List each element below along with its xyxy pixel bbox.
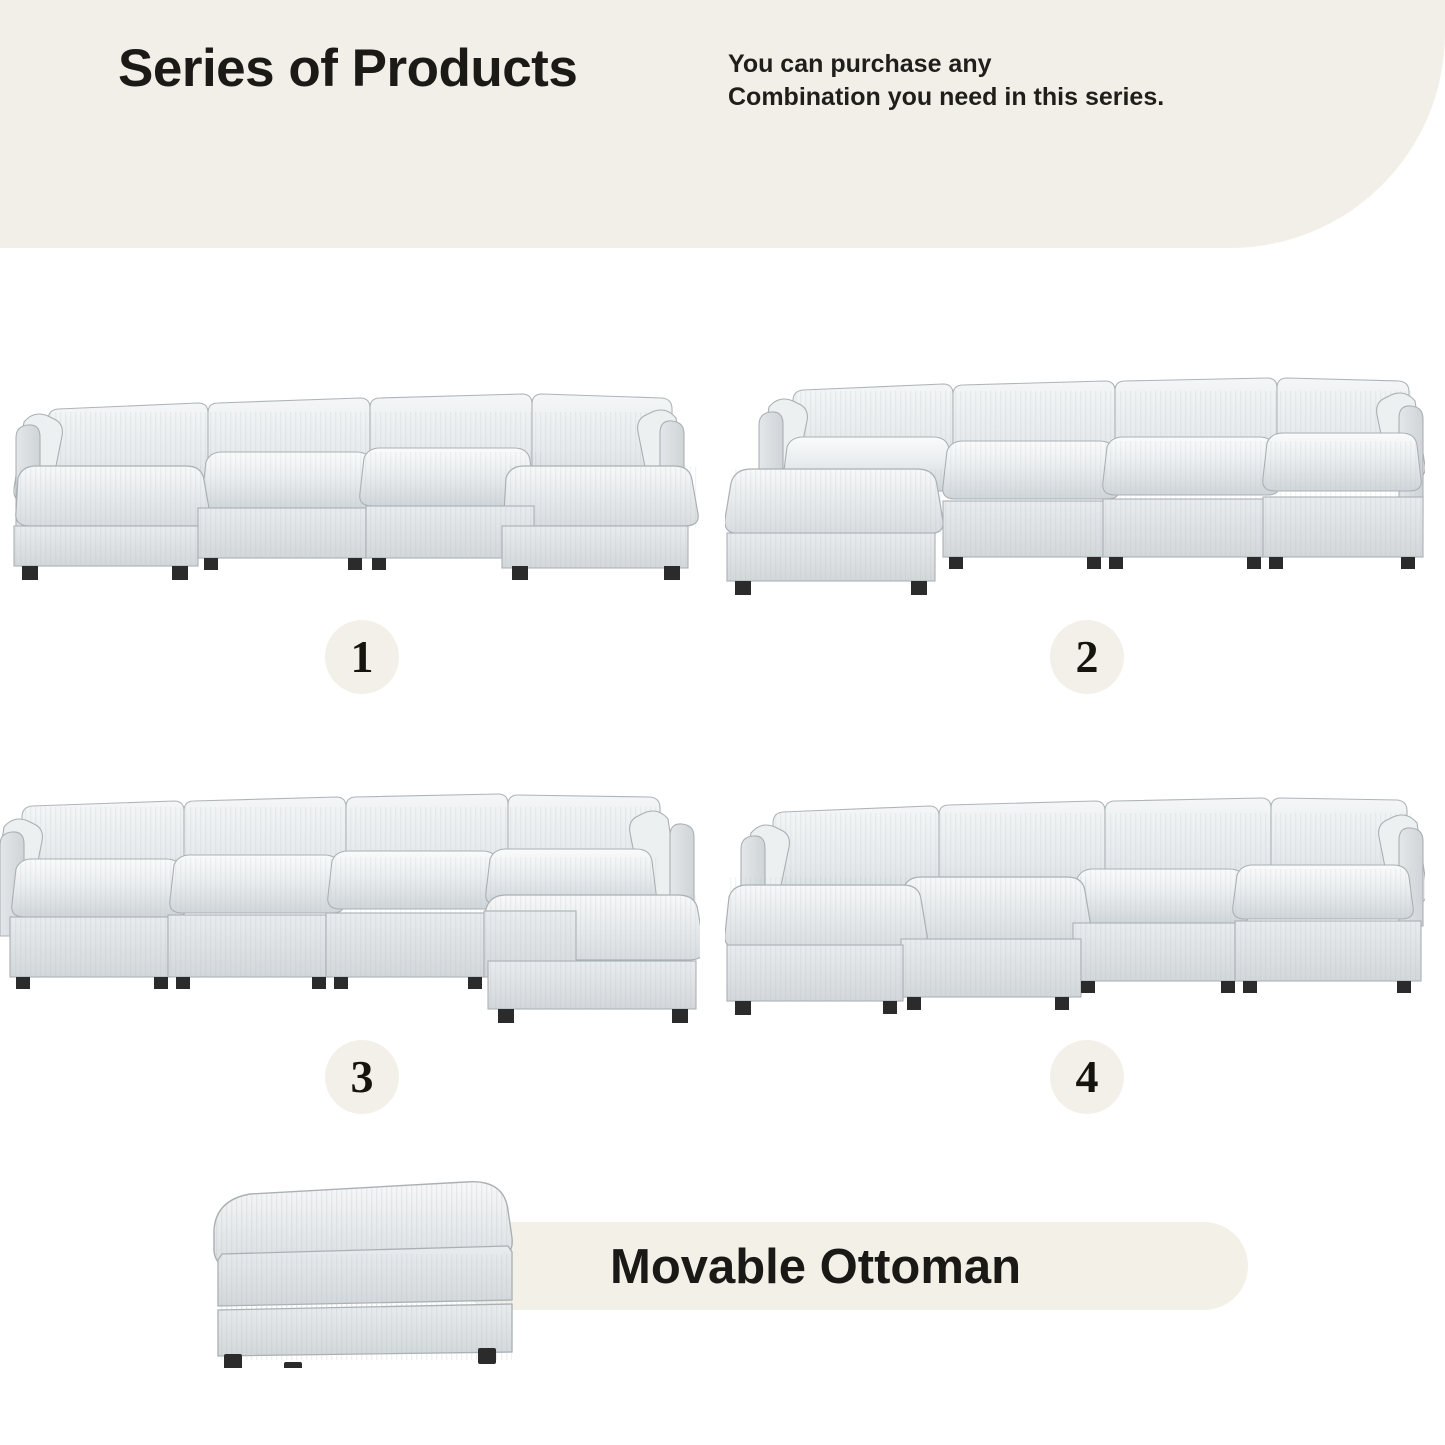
badge-1-number: 1: [351, 634, 374, 680]
configuration-1[interactable]: 1: [0, 360, 700, 600]
sofa-illustration-4: [725, 775, 1425, 1030]
badge-2-number: 2: [1076, 634, 1099, 680]
movable-ottoman-illustration[interactable]: [186, 1168, 546, 1368]
header-subtitle: You can purchase any Combination you nee…: [728, 48, 1164, 115]
header-subtitle-line-1: You can purchase any: [728, 48, 1164, 81]
sofa-illustration-3: [0, 775, 700, 1030]
chaise-cushions-4: [725, 877, 1091, 948]
seat-cushions-back-4: [1073, 865, 1414, 925]
badge-4[interactable]: 4: [1050, 1040, 1124, 1114]
movable-ottoman-label: Movable Ottoman: [610, 1232, 1210, 1302]
badge-4-number: 4: [1076, 1054, 1099, 1100]
badge-3-number: 3: [351, 1054, 374, 1100]
page-title: Series of Products: [118, 38, 577, 99]
configuration-2[interactable]: 2: [725, 355, 1425, 605]
badge-3[interactable]: 3: [325, 1040, 399, 1114]
sofa-illustration-1: [0, 360, 700, 610]
sofa-illustration-2: [725, 355, 1425, 610]
seat-cushions-1: [202, 448, 542, 510]
badge-2[interactable]: 2: [1050, 620, 1124, 694]
configuration-4[interactable]: 4: [725, 775, 1425, 1025]
header-subtitle-line-2: Combination you need in this series.: [728, 81, 1164, 114]
badge-1[interactable]: 1: [325, 620, 399, 694]
seat-cushions-2: [943, 433, 1422, 503]
configuration-3[interactable]: 3: [0, 775, 700, 1025]
product-series-infographic: Series of Products You can purchase any …: [0, 0, 1445, 1445]
